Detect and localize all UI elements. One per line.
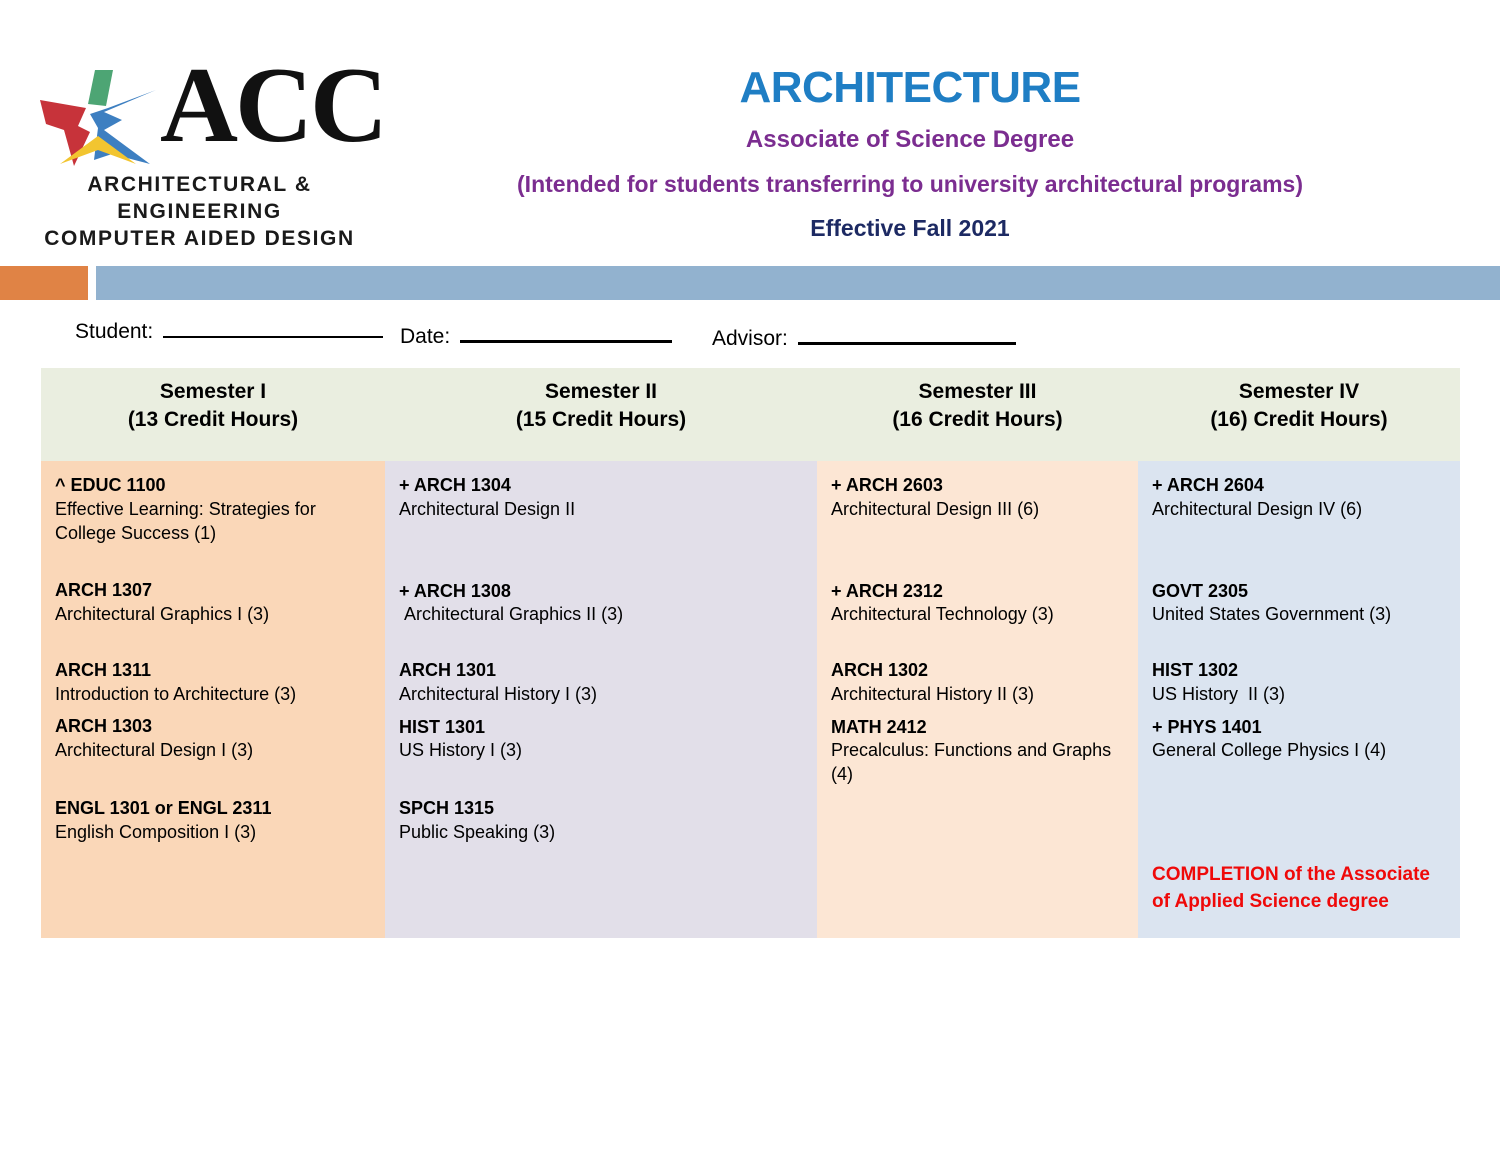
acc-logo-line2: COMPUTER AIDED DESIGN: [22, 226, 377, 253]
student-label: Student:: [75, 320, 153, 344]
course-code: MATH 2412: [831, 716, 1124, 740]
course-name: Effective Learning: Strategies for Colle…: [55, 498, 371, 546]
course-code: HIST 1301: [399, 716, 803, 740]
effective-date: Effective Fall 2021: [380, 215, 1440, 243]
header-semester-1: Semester I (13 Credit Hours): [41, 368, 385, 461]
course-name: Architectural Technology (3): [831, 603, 1124, 627]
semester-1-title: Semester I: [160, 378, 266, 406]
course-code: SPCH 1315: [399, 797, 803, 821]
title-block: ARCHITECTURE Associate of Science Degree…: [380, 64, 1440, 242]
course-code: HIST 1302: [1152, 659, 1446, 683]
course-code: ^ EDUC 1100: [55, 474, 371, 498]
course-code: ARCH 1311: [55, 659, 371, 683]
course-code: + ARCH 1304: [399, 474, 803, 498]
course-entry: HIST 1302US History II (3): [1152, 659, 1446, 707]
semester-4-title: Semester IV: [1239, 378, 1359, 406]
transfer-note: (Intended for students transferring to u…: [380, 171, 1440, 199]
acc-logo: ACC ARCHITECTURAL & ENGINEERING COMPUTER…: [20, 62, 380, 253]
semester-2-title: Semester II: [545, 378, 657, 406]
star-icon: [38, 68, 160, 168]
orange-accent-block: [0, 266, 88, 300]
semester-1-column: ^ EDUC 1100Effective Learning: Strategie…: [41, 461, 385, 938]
course-name: Introduction to Architecture (3): [55, 683, 371, 707]
blue-divider-bar: [96, 266, 1500, 300]
semester-2-column: + ARCH 1304Architectural Design II+ ARCH…: [385, 461, 817, 938]
course-entry: ARCH 1301Architectural History I (3): [399, 659, 803, 707]
course-entry: + ARCH 2312Architectural Technology (3): [831, 580, 1124, 628]
course-name: US History II (3): [1152, 683, 1446, 707]
course-code: GOVT 2305: [1152, 580, 1446, 604]
course-code: + ARCH 2604: [1152, 474, 1446, 498]
course-entry: + PHYS 1401General College Physics I (4): [1152, 716, 1446, 764]
date-label: Date:: [400, 325, 450, 349]
page-title: ARCHITECTURE: [380, 64, 1440, 112]
course-code: + ARCH 2603: [831, 474, 1124, 498]
course-entry: GOVT 2305United States Government (3): [1152, 580, 1446, 628]
course-entry: SPCH 1315Public Speaking (3): [399, 797, 803, 845]
student-input-line[interactable]: [163, 318, 383, 338]
course-code: ARCH 1301: [399, 659, 803, 683]
semester-3-column: + ARCH 2603Architectural Design III (6)+…: [817, 461, 1138, 938]
course-code: + ARCH 1308: [399, 580, 803, 604]
document-header: ACC ARCHITECTURAL & ENGINEERING COMPUTER…: [0, 0, 1500, 258]
course-code: + ARCH 2312: [831, 580, 1124, 604]
course-code: ENGL 1301 or ENGL 2311: [55, 797, 371, 821]
course-name: US History I (3): [399, 739, 803, 763]
course-name: General College Physics I (4): [1152, 739, 1446, 763]
semester-4-credits: (16) Credit Hours): [1210, 406, 1387, 434]
course-entry: ENGL 1301 or ENGL 2311English Compositio…: [55, 797, 371, 845]
semester-3-title: Semester III: [919, 378, 1037, 406]
course-name: Public Speaking (3): [399, 821, 803, 845]
course-entry: ARCH 1307Architectural Graphics I (3): [55, 579, 371, 627]
acc-logo-line1: ARCHITECTURAL & ENGINEERING: [22, 172, 377, 226]
course-entry: + ARCH 1308 Architectural Graphics II (3…: [399, 580, 803, 628]
course-name: Precalculus: Functions and Graphs (4): [831, 739, 1124, 787]
completion-note: COMPLETION of the Associate of Applied S…: [1152, 862, 1452, 916]
course-name: Architectural Design IV (6): [1152, 498, 1446, 522]
semester-3-credits: (16 Credit Hours): [892, 406, 1062, 434]
course-entry: ARCH 1311Introduction to Architecture (3…: [55, 659, 371, 707]
semester-2-credits: (15 Credit Hours): [516, 406, 686, 434]
table-body: ^ EDUC 1100Effective Learning: Strategie…: [41, 461, 1460, 938]
acc-wordmark: ACC: [160, 52, 385, 160]
course-name: Architectural Graphics II (3): [399, 603, 803, 627]
header-semester-2: Semester II (15 Credit Hours): [385, 368, 817, 461]
date-field[interactable]: Date:: [400, 322, 672, 349]
course-entry: + ARCH 1304Architectural Design II: [399, 474, 803, 522]
course-code: ARCH 1307: [55, 579, 371, 603]
advisor-field[interactable]: Advisor:: [712, 324, 1016, 351]
student-field[interactable]: Student:: [75, 318, 383, 344]
course-name: United States Government (3): [1152, 603, 1446, 627]
course-entry: ARCH 1302Architectural History II (3): [831, 659, 1124, 707]
semester-1-credits: (13 Credit Hours): [128, 406, 298, 434]
course-entry: + ARCH 2603Architectural Design III (6): [831, 474, 1124, 522]
course-entry: ^ EDUC 1100Effective Learning: Strategie…: [55, 474, 371, 545]
course-code: ARCH 1303: [55, 715, 371, 739]
course-name: Architectural Design III (6): [831, 498, 1124, 522]
course-name: Architectural Graphics I (3): [55, 603, 371, 627]
course-name: Architectural Design II: [399, 498, 803, 522]
course-name: Architectural Design I (3): [55, 739, 371, 763]
course-entry: HIST 1301US History I (3): [399, 716, 803, 764]
date-input-line[interactable]: [460, 322, 672, 343]
advisor-label: Advisor:: [712, 327, 788, 351]
advisor-input-line[interactable]: [798, 324, 1016, 345]
course-code: + PHYS 1401: [1152, 716, 1446, 740]
course-entry: + ARCH 2604Architectural Design IV (6): [1152, 474, 1446, 522]
student-info-row: Student: Date: Advisor:: [0, 318, 1500, 358]
course-entry: MATH 2412Precalculus: Functions and Grap…: [831, 716, 1124, 787]
header-semester-3: Semester III (16 Credit Hours): [817, 368, 1138, 461]
table-header-row: Semester I (13 Credit Hours) Semester II…: [41, 368, 1460, 461]
header-semester-4: Semester IV (16) Credit Hours): [1138, 368, 1460, 461]
course-entry: ARCH 1303Architectural Design I (3): [55, 715, 371, 763]
course-name: Architectural History I (3): [399, 683, 803, 707]
acc-logo-mark: ACC: [20, 62, 370, 172]
course-code: ARCH 1302: [831, 659, 1124, 683]
course-name: Architectural History II (3): [831, 683, 1124, 707]
semester-4-column: + ARCH 2604Architectural Design IV (6)GO…: [1138, 461, 1460, 938]
degree-plan-table: Semester I (13 Credit Hours) Semester II…: [41, 368, 1460, 938]
degree-subtitle: Associate of Science Degree: [380, 126, 1440, 155]
course-name: English Composition I (3): [55, 821, 371, 845]
